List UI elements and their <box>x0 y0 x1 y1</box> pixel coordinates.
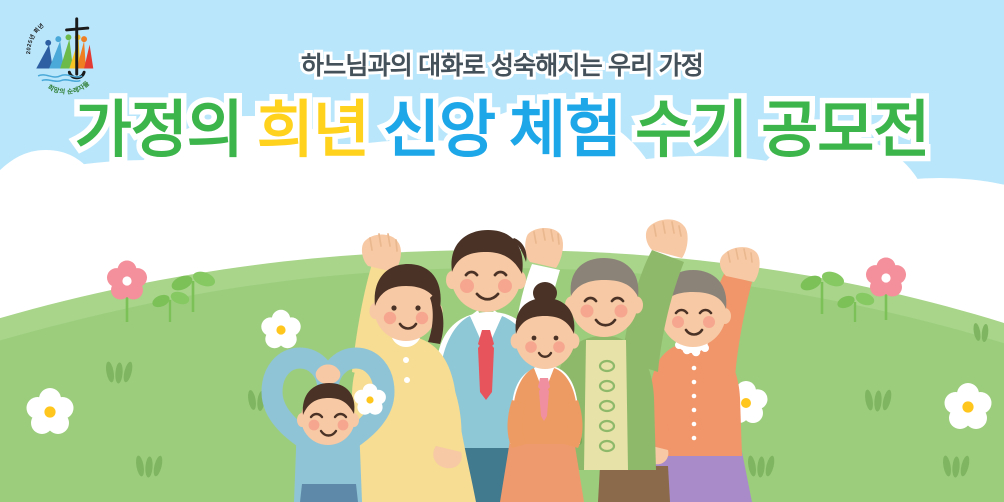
logo-people <box>45 34 87 45</box>
logo-sails <box>36 39 93 68</box>
scene-illustration <box>0 0 1004 502</box>
logo-top-text: 2025년 희년 <box>26 21 46 54</box>
event-banner: 2025년 희년 희망의 순례자들 하느님과의 대화로 성숙해지는 우리 가정 … <box>0 0 1004 502</box>
jubilee-pilgrims-of-hope-logo: 2025년 희년 희망의 순례자들 <box>16 6 108 98</box>
